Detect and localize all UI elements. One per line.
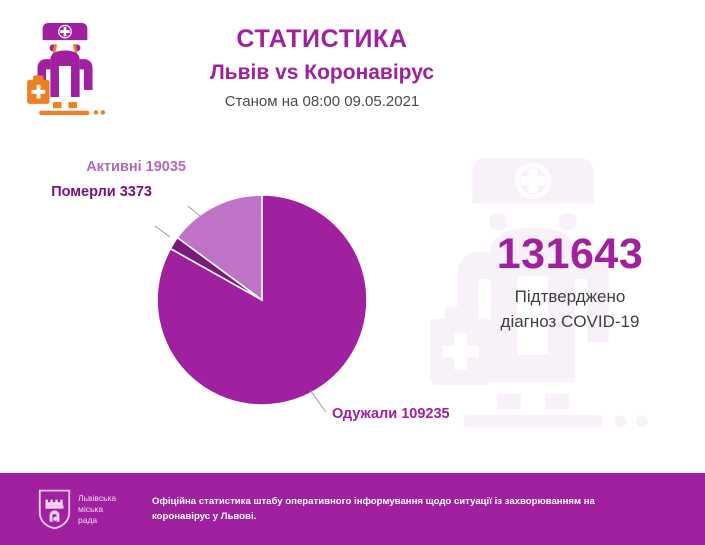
pie-label-active: Активні 19035 — [86, 159, 186, 175]
header-text-block: СТАТИСТИКА Львів vs Коронавірус Станом н… — [112, 22, 532, 115]
leader-line-recovered — [310, 390, 326, 412]
confirmed-cases-caption-line2: діагноз COVID-19 — [450, 309, 690, 334]
covid-statistics-infographic: СТАТИСТИКА Львів vs Коронавірус Станом н… — [0, 0, 705, 545]
pie-slices — [157, 195, 367, 405]
lviv-city-council-logo-text: Львівська міська рада — [78, 493, 116, 526]
pie-chart: Активні 19035 Померли 3373 Одужали 10923… — [0, 140, 440, 460]
logo-text-line2: міська — [78, 504, 116, 515]
footer: Львівська міська рада Офіційна статистик… — [0, 473, 705, 545]
confirmed-cases-stat: 131643 Підтверджено діагноз COVID-19 — [450, 228, 690, 334]
confirmed-cases-number: 131643 — [450, 228, 690, 280]
pie-label-recovered: Одужали 109235 — [332, 406, 450, 422]
logo-text-line1: Львівська — [78, 493, 116, 504]
header: СТАТИСТИКА Львів vs Коронавірус Станом н… — [0, 0, 705, 135]
pie-label-died: Померли 3373 — [51, 184, 152, 200]
logo-text-line3: рада — [78, 515, 116, 526]
as-of-date: Станом на 08:00 09.05.2021 — [112, 89, 532, 115]
confirmed-cases-caption-line1: Підтверджено — [450, 284, 690, 309]
lviv-city-council-shield-icon — [38, 489, 71, 530]
page-subtitle: Львів vs Коронавірус — [112, 56, 532, 89]
page-title: СТАТИСТИКА — [112, 22, 532, 56]
lviv-city-council-logo: Львівська міська рада — [38, 487, 138, 531]
leader-line-died — [155, 226, 170, 237]
leader-line-active — [188, 206, 200, 216]
footer-disclaimer: Офіційна статистика штабу оперативного і… — [152, 494, 632, 524]
doctor-icon — [22, 16, 108, 128]
confirmed-cases-caption: Підтверджено діагноз COVID-19 — [450, 284, 690, 334]
